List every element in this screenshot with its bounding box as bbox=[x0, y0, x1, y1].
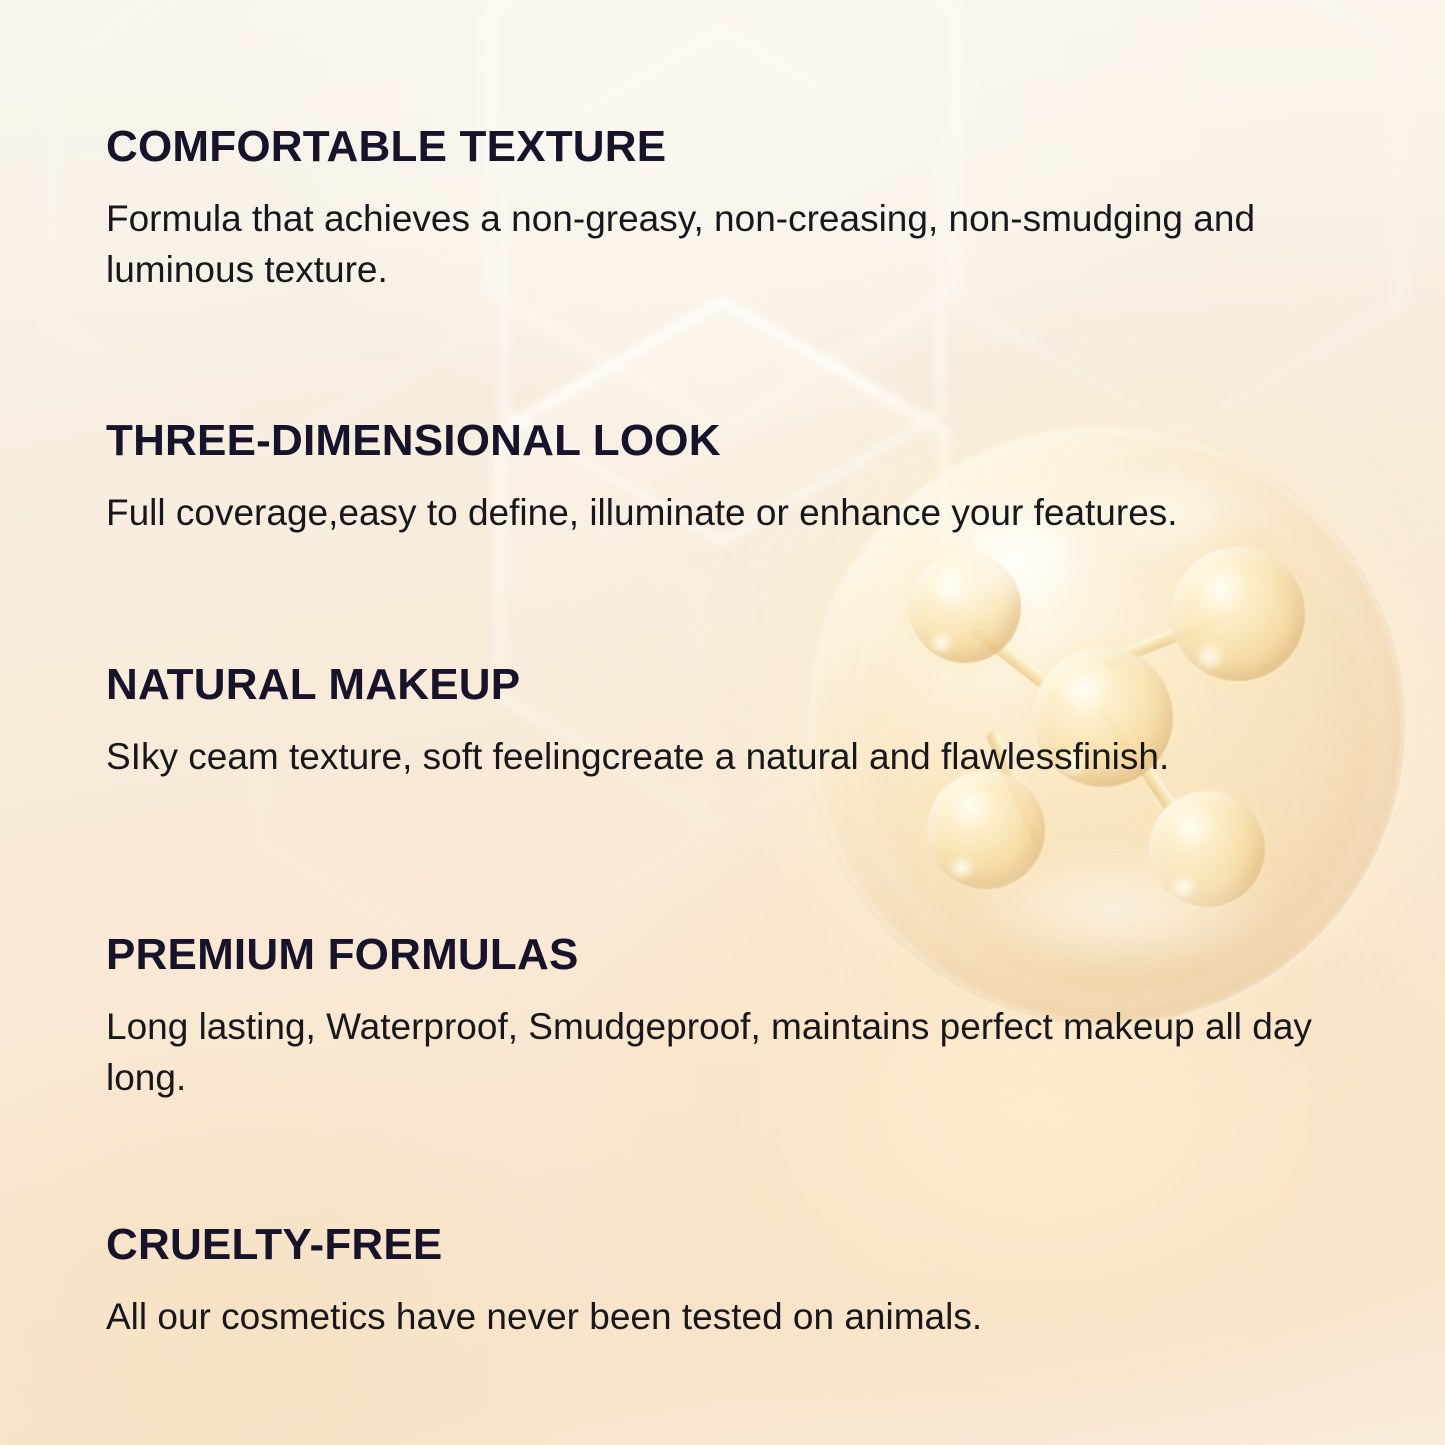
feature-title: COMFORTABLE TEXTURE bbox=[106, 124, 1368, 171]
feature-title: CRUELTY-FREE bbox=[106, 1222, 1368, 1269]
feature-title: NATURAL MAKEUP bbox=[106, 662, 1368, 709]
feature-item-comfortable-texture: COMFORTABLE TEXTURE Formula that achieve… bbox=[106, 124, 1368, 295]
feature-item-premium-formulas: PREMIUM FORMULAS Long lasting, Waterproo… bbox=[106, 932, 1368, 1103]
feature-description: Long lasting, Waterproof, Smudgeproof, m… bbox=[106, 1001, 1368, 1103]
feature-description: Full coverage,easy to define, illuminate… bbox=[106, 487, 1368, 538]
feature-item-natural-makeup: NATURAL MAKEUP SIky ceam texture, soft f… bbox=[106, 662, 1368, 782]
feature-description: All our cosmetics have never been tested… bbox=[106, 1291, 1368, 1342]
feature-item-three-dimensional-look: THREE-DIMENSIONAL LOOK Full coverage,eas… bbox=[106, 418, 1368, 538]
feature-title: PREMIUM FORMULAS bbox=[106, 932, 1368, 979]
feature-description: SIky ceam texture, soft feelingcreate a … bbox=[106, 731, 1368, 782]
feature-item-cruelty-free: CRUELTY-FREE All our cosmetics have neve… bbox=[106, 1222, 1368, 1342]
feature-title: THREE-DIMENSIONAL LOOK bbox=[106, 418, 1368, 465]
feature-description: Formula that achieves a non-greasy, non-… bbox=[106, 193, 1368, 295]
product-feature-panel: COMFORTABLE TEXTURE Formula that achieve… bbox=[0, 0, 1445, 1445]
feature-list: COMFORTABLE TEXTURE Formula that achieve… bbox=[0, 0, 1445, 1445]
